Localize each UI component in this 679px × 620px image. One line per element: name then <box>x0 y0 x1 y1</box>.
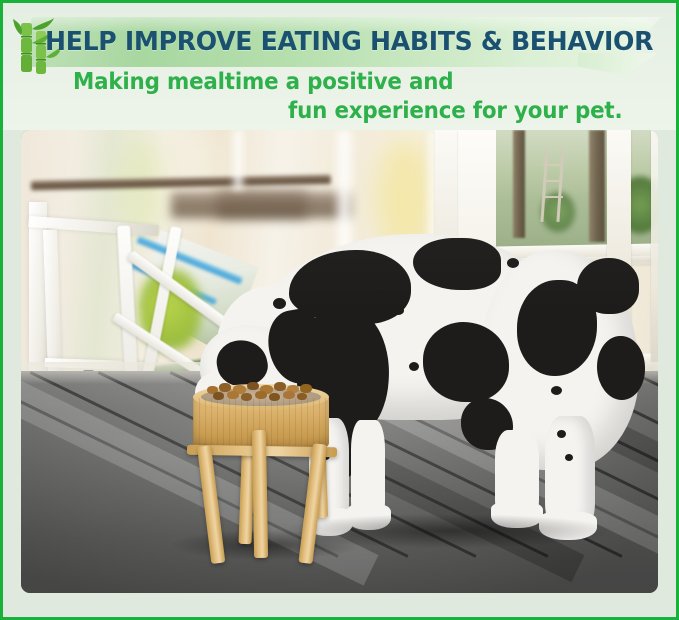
promo-card: HELP IMPROVE EATING HABITS & BEHAVIOR Ma… <box>0 0 679 620</box>
background-post <box>231 130 245 190</box>
subtitle-line-1: Making mealtime a positive and <box>73 69 453 95</box>
porch-shadow <box>217 190 307 218</box>
tree-trunk <box>589 130 605 242</box>
dog-patch <box>423 322 509 402</box>
ladder-rung <box>543 164 561 166</box>
subtitle-line-2: fun experience for your pet. <box>288 98 622 124</box>
stand-leg <box>252 430 268 558</box>
header-banner: HELP IMPROVE EATING HABITS & BEHAVIOR Ma… <box>3 3 676 130</box>
kibble-piece <box>300 384 312 393</box>
kibble-piece <box>247 382 259 390</box>
dog-speckle <box>557 430 566 438</box>
dog-speckle <box>507 258 519 268</box>
dog-patch <box>577 258 639 314</box>
ladder-rung <box>545 196 563 198</box>
photo-scene <box>21 130 658 593</box>
dog-patch <box>597 336 645 400</box>
dog-speckle <box>409 362 419 371</box>
ladder-rung <box>544 180 562 182</box>
page-title: HELP IMPROVE EATING HABITS & BEHAVIOR <box>45 27 656 57</box>
kibble-piece <box>274 382 286 391</box>
tree-trunk <box>513 130 525 238</box>
railing-post <box>651 130 658 390</box>
dog-speckle <box>565 454 573 461</box>
dog-speckle <box>373 280 388 292</box>
dog-speckle <box>393 306 404 315</box>
dog-speckle <box>551 386 562 395</box>
dog-speckle <box>273 298 286 309</box>
product-photo <box>21 130 658 593</box>
